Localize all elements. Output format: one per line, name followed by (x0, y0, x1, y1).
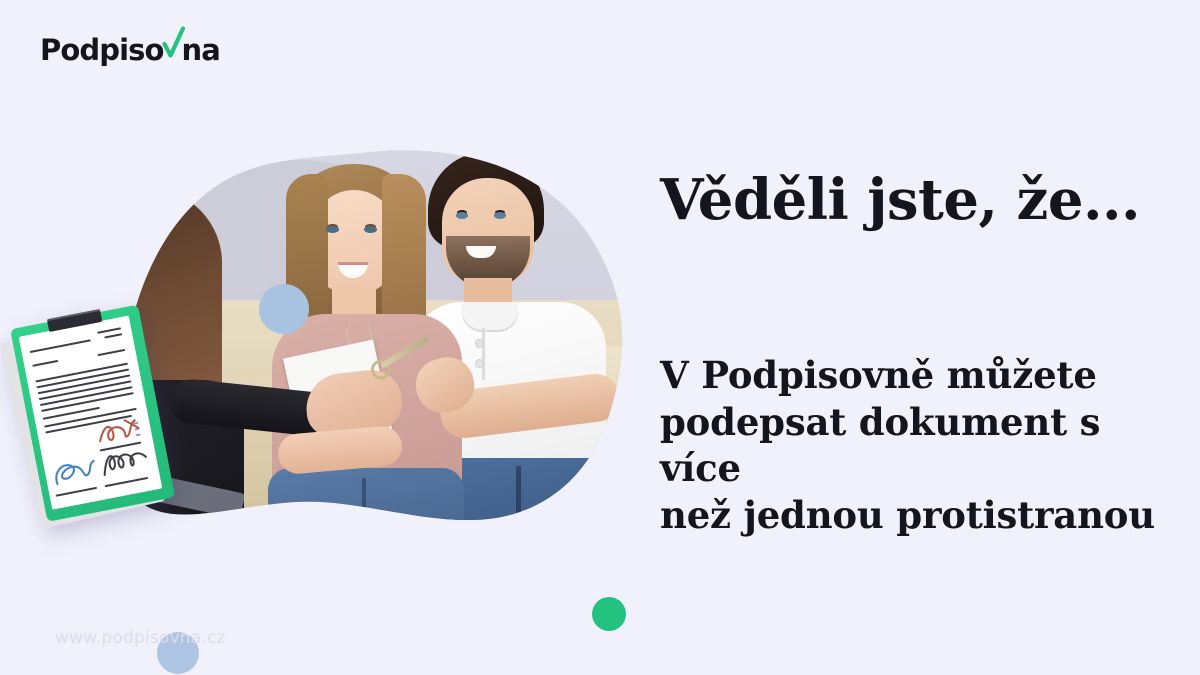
body-copy: V Podpisovně můžete podepsat dokument s … (660, 352, 1190, 538)
body-copy-line-2: podepsat dokument s více (660, 399, 1190, 492)
photo-blob-mask (0, 120, 660, 550)
green-check-icon (164, 30, 183, 60)
photo-woman-eye-left (326, 226, 339, 233)
photo-man-collar (462, 302, 518, 332)
photo-woman-jeans (268, 468, 464, 540)
copy-block: Věděli jste, že... V Podpisovně můžete p… (660, 170, 1180, 230)
photo-man-eye-left (456, 212, 468, 219)
photo-woman-eye-right (364, 226, 377, 233)
body-copy-line-3: než jednou protistranou (660, 492, 1190, 539)
photo-man-eye-right (494, 212, 506, 219)
photo-scene (110, 150, 630, 540)
slide-canvas: Podpiso na (0, 0, 1200, 675)
logo-text-after: na (182, 36, 220, 65)
signature-blue (49, 455, 99, 491)
footer-website-url[interactable]: www.podpisovna.cz (55, 628, 226, 648)
logo-wordmark: Podpiso na (40, 30, 220, 65)
body-copy-line-1: V Podpisovně můžete (660, 352, 1190, 399)
couple-photo (110, 150, 630, 540)
blue-circle-top-decoration (259, 284, 309, 334)
logo-text-before: Podpiso (40, 36, 164, 65)
hero-visual (0, 120, 660, 550)
photo-man-placket (482, 328, 485, 380)
green-circle-decoration (592, 597, 626, 631)
logo[interactable]: Podpiso na (40, 30, 220, 70)
photo-man-button-top (476, 340, 483, 347)
headline: Věděli jste, že... (660, 170, 1180, 230)
photo-man-button-bottom (476, 360, 483, 367)
